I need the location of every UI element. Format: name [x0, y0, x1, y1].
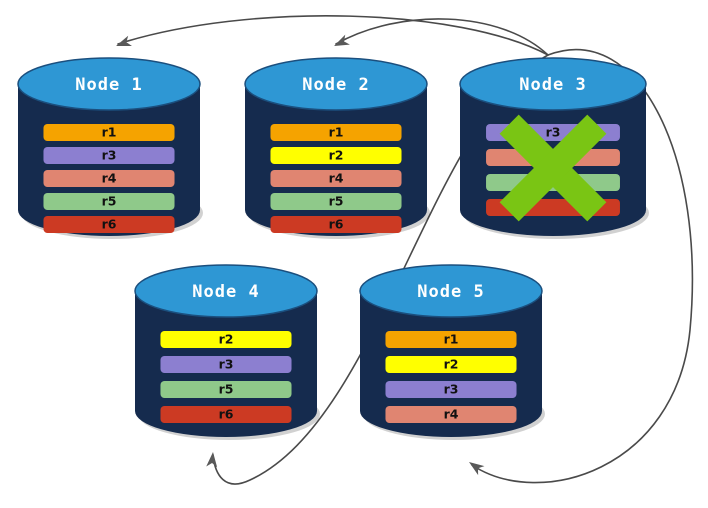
- record-label-r3: r3: [219, 357, 234, 372]
- record-label-r2: r2: [444, 357, 459, 372]
- node-5[interactable]: Node 5r1r2r3r4: [360, 265, 545, 440]
- record-label-r1: r1: [329, 125, 344, 140]
- node-title-label: Node 4: [192, 282, 259, 302]
- record-label-r4: r4: [444, 407, 459, 422]
- record-label-r3: r3: [444, 382, 459, 397]
- record-label-r5: r5: [219, 382, 234, 397]
- record-label-r3: r3: [102, 148, 117, 163]
- node-3[interactable]: Node 3r3: [460, 58, 649, 239]
- record-label-r3: r3: [546, 125, 561, 140]
- database-nodes-layer: Node 1r1r3r4r5r6Node 2r1r2r4r5r6Node 3r3…: [0, 0, 708, 508]
- record-label-r5: r5: [102, 194, 117, 209]
- record-label-r2: r2: [219, 332, 234, 347]
- node-title-label: Node 1: [75, 75, 142, 95]
- node-title-label: Node 3: [519, 75, 586, 95]
- record-label-r2: r2: [329, 148, 344, 163]
- record-label-r6: r6: [102, 217, 117, 232]
- record-label-r6: r6: [329, 217, 344, 232]
- node-2[interactable]: Node 2r1r2r4r5r6: [245, 58, 430, 239]
- node-title-label: Node 2: [302, 75, 369, 95]
- record-label-r4: r4: [329, 171, 344, 186]
- node-4[interactable]: Node 4r2r3r5r6: [135, 265, 320, 440]
- node-title-label: Node 5: [417, 282, 484, 302]
- record-label-r6: r6: [219, 407, 234, 422]
- record-label-r5: r5: [329, 194, 344, 209]
- record-label-r4: r4: [102, 171, 117, 186]
- record-label-r1: r1: [102, 125, 117, 140]
- node-1[interactable]: Node 1r1r3r4r5r6: [18, 58, 203, 239]
- diagram-canvas: Node 1r1r3r4r5r6Node 2r1r2r4r5r6Node 3r3…: [0, 0, 708, 508]
- record-label-r1: r1: [444, 332, 459, 347]
